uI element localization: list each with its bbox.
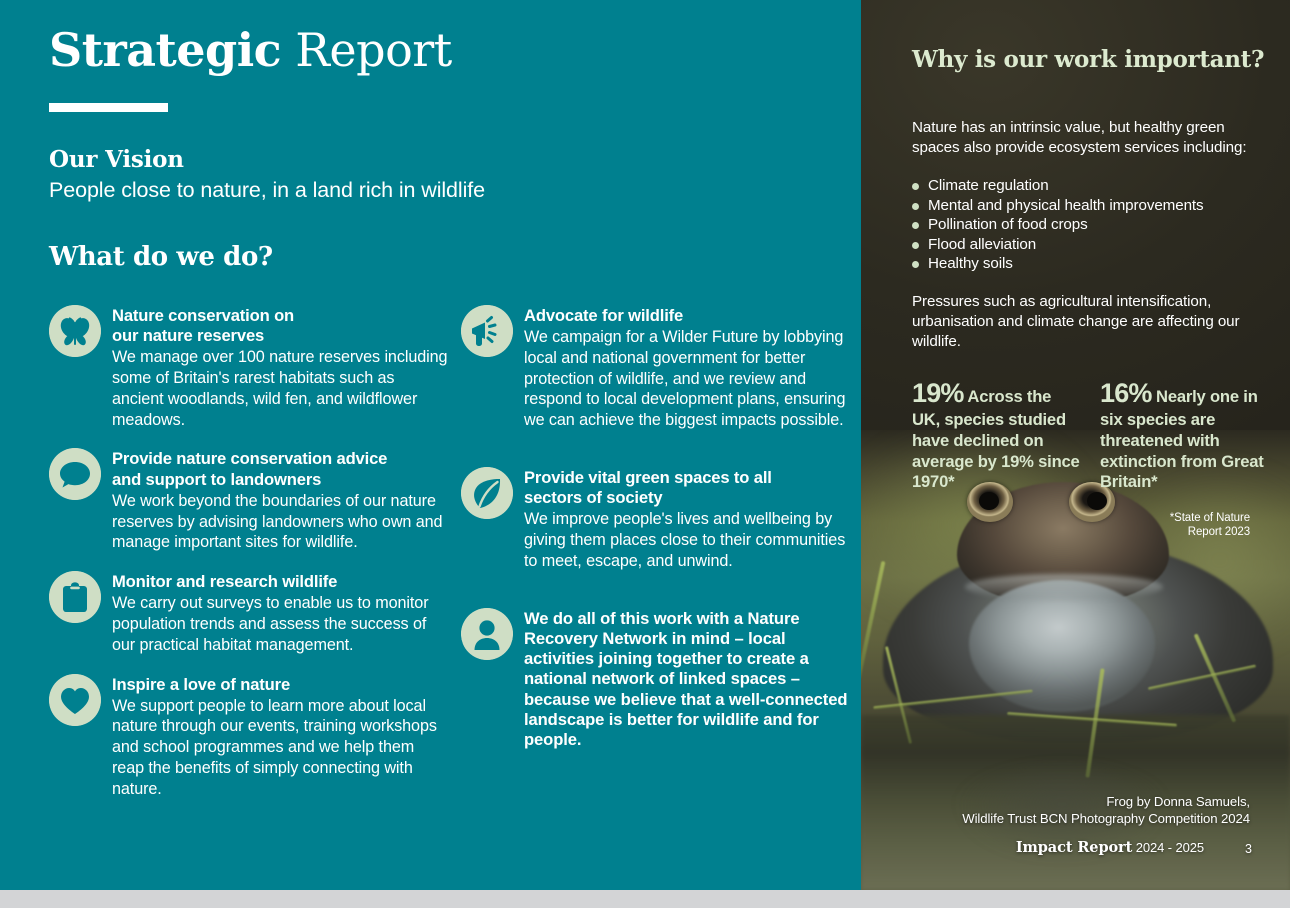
list-item-body: Advocate for wildlife We campaign for a … [524,305,859,431]
imprint-years: 2024 - 2025 [1132,840,1204,855]
clipboard-icon [49,571,101,623]
source-footnote: *State of NatureReport 2023 [1170,511,1250,540]
megaphone-icon [461,305,513,357]
list-item-text: We campaign for a Wilder Future by lobby… [524,327,859,431]
speech-bubble-icon [49,448,101,500]
list-item: Inspire a love of nature We support peop… [49,674,449,800]
list-item: Advocate for wildlife We campaign for a … [461,305,859,431]
left-teal-panel: Strategic Report Our Vision People close… [0,0,861,890]
list-item-text: We work beyond the boundaries of our nat… [112,491,449,553]
stat-card: 19% Across the UK, species studied have … [912,377,1080,493]
list-item-title: Provide nature conservation adviceand su… [112,449,449,489]
ecosystem-services-list: Climate regulation Mental and physical h… [912,176,1257,274]
stat-card: 16% Nearly one in six species are threat… [1100,377,1268,493]
stat-value: 19% [912,378,964,408]
heart-icon [49,674,101,726]
list-item-body: Provide vital green spaces to allsectors… [524,467,859,572]
services-column-right: Advocate for wildlife We campaign for a … [461,305,859,750]
why-important-heading: Why is our work important? [912,46,1264,73]
butterfly-icon [49,305,101,357]
list-item-title: Inspire a love of nature [112,675,449,695]
report-imprint: Impact Report 2024 - 2025 [1016,839,1204,856]
page-title: Strategic Report [49,24,452,77]
list-item: Monitor and research wildlife We carry o… [49,571,449,655]
what-do-we-do-heading: What do we do? [49,242,273,272]
photo-credit: Frog by Donna Samuels,Wildlife Trust BCN… [962,793,1250,827]
title-rule-divider [49,103,168,112]
list-item-title: Advocate for wildlife [524,306,859,326]
list-item-body: Inspire a love of nature We support peop… [112,674,449,800]
statistics-group: 19% Across the UK, species studied have … [912,377,1272,493]
page-title-light: Report [281,23,452,77]
list-item: Climate regulation [912,176,1257,196]
list-item-text: We support people to learn more about lo… [112,696,449,800]
list-item: Healthy soils [912,254,1257,274]
list-item-body: Monitor and research wildlife We carry o… [112,571,449,655]
vision-subtitle: People close to nature, in a land rich i… [49,178,485,203]
right-photo-panel: Why is our work important? Nature has an… [861,0,1290,890]
list-item-body: Nature conservation onour nature reserve… [112,305,449,430]
list-item: Provide vital green spaces to allsectors… [461,467,859,572]
list-item-text: We carry out surveys to enable us to mon… [112,593,449,655]
list-item-title: Monitor and research wildlife [112,572,449,592]
list-item: Mental and physical health improvements [912,196,1257,216]
frog-pupil-right [1087,492,1107,510]
list-item: Provide nature conservation adviceand su… [49,448,449,553]
list-item-title: Provide vital green spaces to allsectors… [524,468,859,508]
page-number: 3 [1245,842,1252,856]
vision-heading: Our Vision [49,146,184,173]
frog-reflection [947,768,1177,888]
list-item: Pollination of food crops [912,215,1257,235]
frog-pupil-left [979,492,999,510]
list-item-text: We manage over 100 nature reserves inclu… [112,347,449,430]
list-item-body: Provide nature conservation adviceand su… [112,448,449,553]
frog-mouth [965,574,1163,600]
list-item: Nature conservation onour nature reserve… [49,305,449,430]
list-item-text: We do all of this work with a Nature Rec… [524,609,859,751]
imprint-title: Impact Report [1016,839,1132,856]
why-important-intro: Nature has an intrinsic value, but healt… [912,118,1257,158]
bottom-strip [0,890,1290,908]
page-title-bold: Strategic [49,23,281,77]
list-item-text: We improve people's lives and wellbeing … [524,509,859,571]
person-icon [461,608,513,660]
stat-value: 16% [1100,378,1152,408]
pressures-paragraph: Pressures such as agricultural intensifi… [912,292,1257,352]
list-item: Flood alleviation [912,235,1257,255]
list-item-title: Nature conservation onour nature reserve… [112,306,449,346]
services-column-left: Nature conservation onour nature reserve… [49,305,449,799]
leaf-icon [461,467,513,519]
list-item: We do all of this work with a Nature Rec… [461,608,859,751]
report-page: Strategic Report Our Vision People close… [0,0,1290,908]
list-item-body: We do all of this work with a Nature Rec… [524,608,859,751]
